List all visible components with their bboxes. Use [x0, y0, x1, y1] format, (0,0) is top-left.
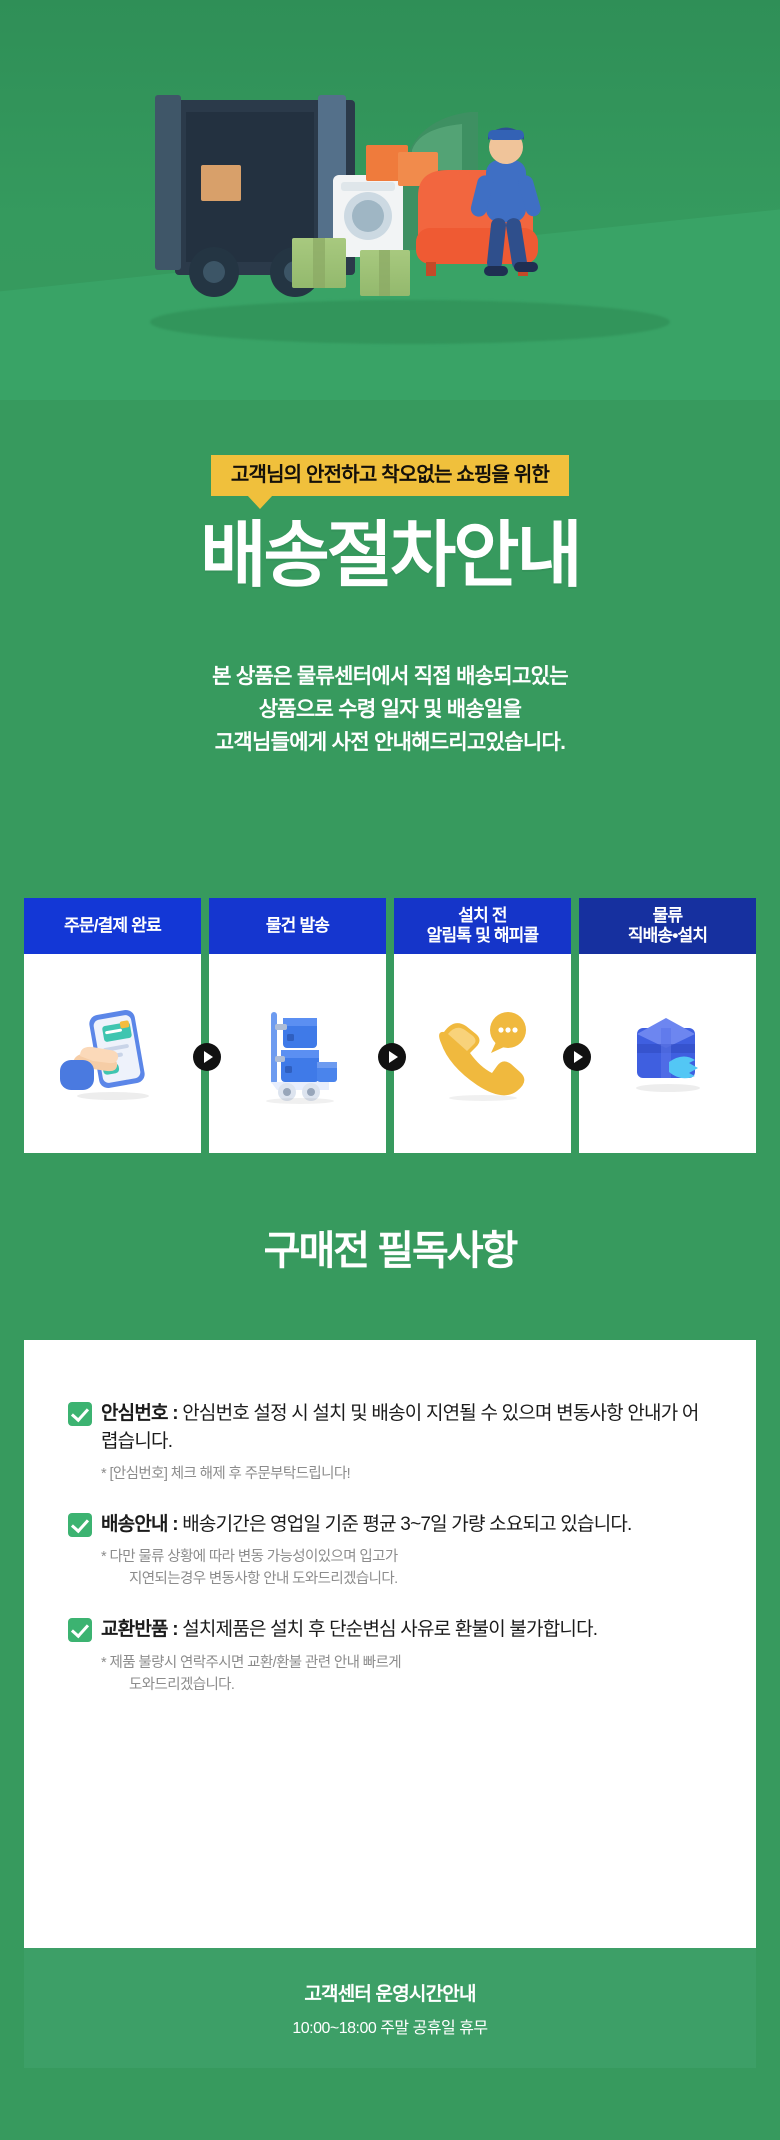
step-1-icon-area: [24, 954, 201, 1153]
step-2-header: 물건 발송: [209, 898, 386, 954]
description-line-1: 본 상품은 물류센터에서 직접 배송되고있는: [0, 660, 780, 693]
notice-term-3: 교환반품: [101, 1619, 168, 1640]
notice-text-2: 배송안내 : 배송기간은 영업일 기준 평균 3~7일 가량 소요되고 있습니다…: [101, 1511, 712, 1590]
notice-body-3: 설치제품은 설치 후 단순변심 사유로 환불이 불가합니다.: [182, 1619, 597, 1640]
notice-sub-2-line1: * 다만 물류 상황에 따라 변동 가능성이있으며 입고가: [101, 1549, 398, 1565]
step-4-label-line2: 직배송•설치: [628, 926, 707, 945]
bottom-green-strip: [0, 2068, 780, 2140]
notice-text-1: 안심번호 : 안심번호 설정 시 설치 및 배송이 지연될 수 있으며 변동사항…: [101, 1400, 712, 1485]
tagline-ribbon: 고객님의 안전하고 착오없는 쇼핑을 위한: [211, 455, 569, 496]
notice-sep-3: :: [168, 1619, 183, 1640]
notice-body-2: 배송기간은 영업일 기준 평균 3~7일 가량 소요되고 있습니다.: [182, 1514, 631, 1535]
notice-main-1: 안심번호 : 안심번호 설정 시 설치 및 배송이 지연될 수 있으며 변동사항…: [101, 1400, 712, 1456]
notice-sub-3-line1: * 제품 불량시 연락주시면 교환/환불 관련 안내 빠르게: [101, 1655, 401, 1671]
green-checkbox-icon-1: [68, 1402, 92, 1426]
notice-sub-1: * [안심번호] 체크 해제 후 주문부탁드립니다!: [101, 1463, 712, 1485]
step-3-label-line1: 설치 전: [458, 906, 506, 925]
notice-sub-3: * 제품 불량시 연락주시면 교환/환불 관련 안내 빠르게 도와드리겠습니다.: [101, 1652, 712, 1696]
footer-title: 고객센터 운영시간안내: [304, 1979, 475, 2006]
notice-text-3: 교환반품 : 설치제품은 설치 후 단순변심 사유로 환불이 불가합니다. * …: [101, 1616, 712, 1695]
must-read-notice-panel: 안심번호 : 안심번호 설정 시 설치 및 배송이 지연될 수 있으며 변동사항…: [24, 1340, 756, 1948]
hand-holding-smartphone-payment-icon: [58, 1004, 168, 1104]
delivery-box-truck-icon: [613, 1004, 723, 1104]
truck-door-left: [155, 95, 181, 270]
step-order-payment: 주문/결제 완료: [24, 898, 201, 1153]
step-1-label-line1: 주문/결제 완료: [64, 916, 161, 935]
notice-term-1: 안심번호: [101, 1403, 168, 1424]
step-4-header: 물류 직배송•설치: [579, 898, 756, 954]
ribbon-container: 고객님의 안전하고 착오없는 쇼핑을 위한: [0, 455, 780, 496]
description-line-2: 상품으로 수령 일자 및 배송일을: [0, 693, 780, 726]
notice-sub-2: * 다만 물류 상황에 따라 변동 가능성이있으며 입고가 지연되는경우 변동사…: [101, 1546, 712, 1590]
notice-sep-2: :: [168, 1514, 183, 1535]
cardboard-box-in-truck: [201, 165, 241, 201]
notice-item-safe-number: 안심번호 : 안심번호 설정 시 설치 및 배송이 지연될 수 있으며 변동사항…: [68, 1400, 712, 1485]
step-pre-install-call: 설치 전 알림톡 및 해피콜: [394, 898, 571, 1153]
delivery-steps: 주문/결제 완료: [24, 898, 756, 1153]
notice-body-1: 안심번호 설정 시 설치 및 배송이 지연될 수 있으며 변동사항 안내가 어렵…: [101, 1403, 699, 1452]
delivery-info-page: 고객님의 안전하고 착오없는 쇼핑을 위한 배송절차안내 본 상품은 물류센터에…: [0, 0, 780, 2140]
notice-sub-2-line2: 지연되는경우 변동사항 안내 도와드리겠습니다.: [119, 1568, 712, 1590]
step-2-icon-area: [209, 954, 386, 1153]
step-shipping: 물건 발송: [209, 898, 386, 1153]
step-1-header: 주문/결제 완료: [24, 898, 201, 954]
notice-sub-3-line2: 도와드리겠습니다.: [119, 1674, 712, 1696]
page-description: 본 상품은 물류센터에서 직접 배송되고있는 상품으로 수령 일자 및 배송일을…: [0, 660, 780, 760]
step-arrow-1-icon: [193, 1043, 221, 1071]
step-3-label-line2: 알림톡 및 해피콜: [427, 926, 539, 945]
hand-truck-boxes-icon: [243, 1004, 353, 1104]
step-2-label-line1: 물건 발송: [266, 916, 329, 935]
green-checkbox-icon-2: [68, 1513, 92, 1537]
telephone-chat-bubble-icon: [428, 1004, 538, 1104]
step-4-icon-area: [579, 954, 756, 1153]
customer-center-footer: 고객센터 운영시간안내 10:00~18:00 주말 공휴일 휴무: [24, 1948, 756, 2068]
hero-illustration: [0, 0, 780, 400]
notice-item-exchange-return: 교환반품 : 설치제품은 설치 후 단순변심 사유로 환불이 불가합니다. * …: [68, 1616, 712, 1695]
green-checkbox-icon-3: [68, 1618, 92, 1642]
description-line-3: 고객님들에게 사전 안내해드리고있습니다.: [0, 726, 780, 759]
section-title-must-read: 구매전 필독사항: [0, 1218, 780, 1276]
delivery-scene-svg: [0, 0, 780, 400]
tagline-text: 고객님의 안전하고 착오없는 쇼핑을 위한: [231, 464, 549, 486]
page-title: 배송절차안내: [0, 520, 780, 592]
step-arrow-2-icon: [378, 1043, 406, 1071]
notice-term-2: 배송안내: [101, 1514, 168, 1535]
step-3-icon-area: [394, 954, 571, 1153]
notice-main-3: 교환반품 : 설치제품은 설치 후 단순변심 사유로 환불이 불가합니다.: [101, 1616, 712, 1644]
step-arrow-3-icon: [563, 1043, 591, 1071]
notice-main-2: 배송안내 : 배송기간은 영업일 기준 평균 3~7일 가량 소요되고 있습니다…: [101, 1511, 712, 1539]
ribbon-tail-icon: [247, 495, 273, 509]
footer-hours: 10:00~18:00 주말 공휴일 휴무: [292, 2014, 487, 2038]
sleeve: [60, 1060, 94, 1090]
notice-item-delivery-guide: 배송안내 : 배송기간은 영업일 기준 평균 3~7일 가량 소요되고 있습니다…: [68, 1511, 712, 1590]
step-logistics-install: 물류 직배송•설치: [579, 898, 756, 1153]
step-3-header: 설치 전 알림톡 및 해피콜: [394, 898, 571, 954]
step-4-label-line1: 물류: [653, 906, 683, 925]
notice-sep-1: :: [168, 1403, 183, 1424]
